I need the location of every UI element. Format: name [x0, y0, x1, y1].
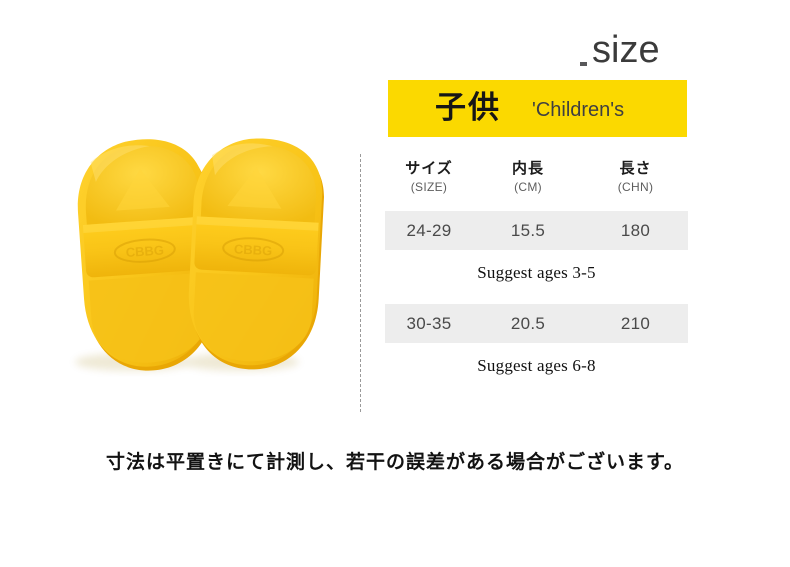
table-header-inner-length-ja: 内長 [473, 158, 583, 179]
table-header-length-ja: 長さ [583, 158, 688, 179]
category-label-ja: 子供 [435, 88, 501, 128]
size-table: サイズ (SIZE) 内長 (CM) 長さ (CHN) 24-29 15.5 1… [385, 155, 688, 387]
table-row: 30-35 20.5 210 [385, 304, 688, 343]
cell-inner-length: 20.5 [473, 314, 583, 334]
cell-length: 210 [583, 314, 688, 334]
table-header-size-ja: サイズ [385, 158, 473, 179]
table-header-inner-length: 内長 (CM) [473, 158, 583, 211]
row-note: Suggest ages 6-8 [385, 353, 688, 378]
table-header-size-en: (SIZE) [385, 179, 473, 196]
category-banner: 子供 'Children's [388, 80, 687, 137]
page-title: size [592, 28, 660, 72]
category-label-en: 'Children's [532, 97, 624, 123]
svg-text:CBBG: CBBG [125, 242, 164, 260]
table-header-inner-length-en: (CM) [473, 179, 583, 196]
table-header-length: 長さ (CHN) [583, 158, 688, 211]
row-note-text: Suggest ages 6-8 [477, 356, 595, 375]
footer-disclaimer: 寸法は平置きにて計測し、若干の誤差がある場合がございます。 [0, 448, 790, 476]
cell-inner-length: 15.5 [473, 221, 583, 241]
slipper-right: CBBG [185, 135, 327, 373]
cell-size: 30-35 [385, 314, 473, 334]
table-header-row: サイズ (SIZE) 内長 (CM) 長さ (CHN) [385, 155, 688, 211]
dashed-divider [360, 154, 361, 412]
svg-text:CBBG: CBBG [234, 241, 273, 258]
row-note: Suggest ages 3-5 [385, 260, 688, 285]
row-note-text: Suggest ages 3-5 [477, 263, 595, 282]
cell-size: 24-29 [385, 221, 473, 241]
table-spacer [385, 294, 688, 304]
cell-length: 180 [583, 221, 688, 241]
table-header-length-en: (CHN) [583, 179, 688, 196]
product-photo: CBBG CBBG [55, 130, 345, 380]
size-heading-tick [580, 62, 587, 66]
table-row: 24-29 15.5 180 [385, 211, 688, 250]
table-header-size: サイズ (SIZE) [385, 158, 473, 211]
